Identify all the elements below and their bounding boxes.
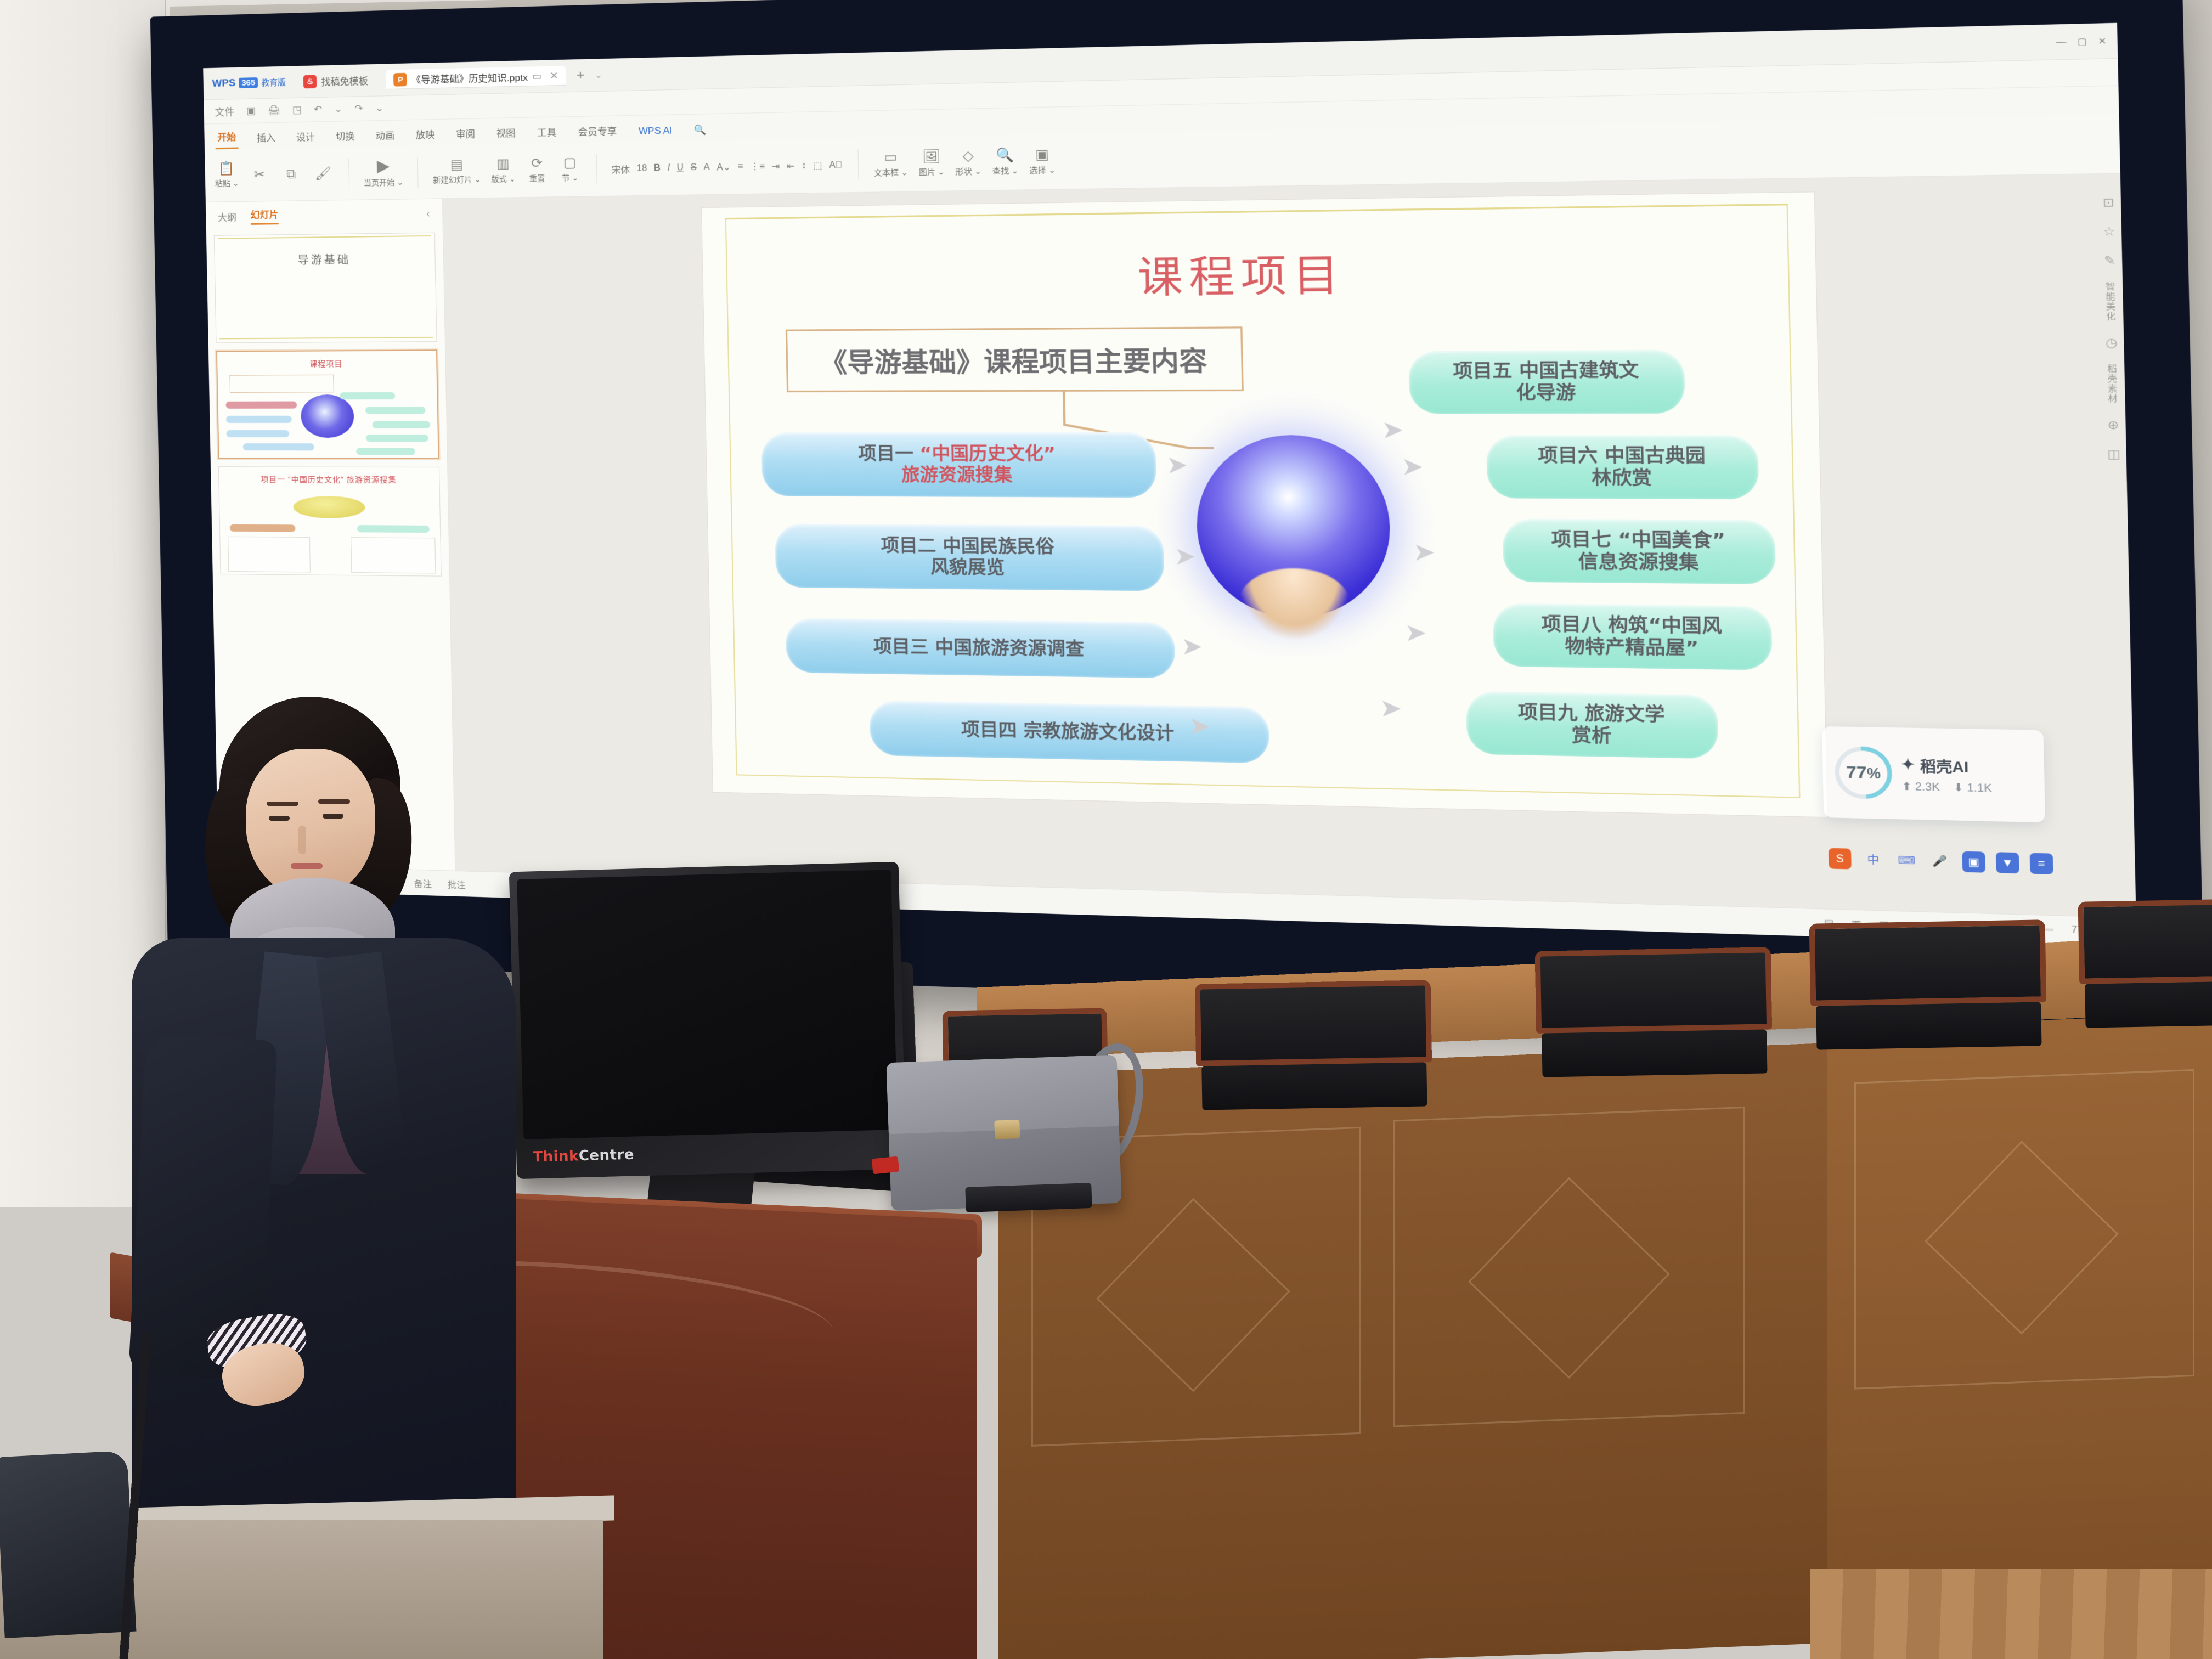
ribbon-divider-2 <box>417 157 419 187</box>
pill-5-line2: 化导游 <box>1516 382 1576 403</box>
file-menu-button[interactable]: 文件 <box>215 104 234 119</box>
font-size-input[interactable]: 18 <box>636 163 647 174</box>
ai-progress-ring: 77% <box>1823 736 1904 810</box>
layout-label: 版式 ⌄ <box>491 173 516 184</box>
section-label: 节 ⌄ <box>562 172 579 183</box>
bullets-button[interactable]: ⋮≡ <box>750 161 765 172</box>
tab-view[interactable]: 视图 <box>494 123 518 144</box>
thumbnail-disc-shape <box>293 496 365 518</box>
project-pill-7[interactable]: 项目七 “中国美食” 信息资源搜集 <box>1503 518 1776 584</box>
current-slide[interactable]: 课程项目 《导游基础》课程项目主要内容 <box>701 191 1828 817</box>
project-pill-8[interactable]: 项目八 构筑“中国风 物特产精品屋” <box>1493 603 1773 670</box>
undo-icon[interactable]: ↶ <box>314 104 323 116</box>
chair <box>2078 898 2212 1055</box>
tab-transition[interactable]: 切换 <box>334 126 357 147</box>
ribbon-divider-3 <box>596 154 597 185</box>
edit-pencil-icon[interactable]: ✎ <box>2104 253 2116 268</box>
play-circle-icon: ▶ <box>376 157 390 174</box>
wps-logo: WPS 365 教育版 <box>212 76 286 89</box>
connector-arrow-right-icon: ➤ <box>1401 454 1424 479</box>
ime-dock: S 中 ⌨ 🎤 ▣ ▼ ≡ <box>1829 848 2053 874</box>
pill-8-line2: 物特产精品屋” <box>1565 636 1699 659</box>
pill-2-highlight: 中国民族民俗 <box>943 535 1054 557</box>
ribbon-divider <box>348 159 349 189</box>
template-icon: ♨ <box>303 75 317 88</box>
tab-outline[interactable]: 大纲 <box>218 210 236 224</box>
quickbar-more-chevron-down-icon[interactable]: ⌄ <box>375 102 384 114</box>
handbag-clasp <box>994 1120 1020 1139</box>
connector-arrow-right-icon: ➤ <box>1174 544 1196 568</box>
language-icon[interactable]: 中 <box>1861 849 1884 870</box>
pill-6-highlight: 中国古典园 <box>1605 445 1706 467</box>
pill-1-prefix: 项目一 <box>858 443 913 464</box>
tab-restore-icon[interactable]: ▭ <box>532 70 542 82</box>
wps-logo-text: WPS <box>212 77 235 89</box>
tab-tools[interactable]: 工具 <box>535 122 559 144</box>
text-box-button[interactable]: ▭ 文本框 ⌄ <box>873 150 908 178</box>
pill-8-prefix: 项目八 <box>1541 613 1601 636</box>
close-window-button[interactable]: ✕ <box>2098 35 2107 47</box>
toolbox-icon[interactable]: ▣ <box>1962 851 1985 873</box>
font-format-group: 宋体 18 B I U S A A⌄ ≡ ⋮≡ ⇥ ⇤ ↕ ⬚ <box>611 158 842 176</box>
pill-5-highlight: 中国古建筑文 <box>1519 360 1639 382</box>
ai-progress-value: 77 <box>1846 763 1867 782</box>
tab-close-icon[interactable]: ✕ <box>550 70 558 82</box>
ai-widget-title: 稻壳AI <box>1920 754 1968 777</box>
slides-group: ▤ 新建幻灯片 ⌄ ▥ 版式 ⌄ ⟳ 重置 ▢ <box>432 156 582 185</box>
connector-arrow-down-icon: ➤ <box>1381 417 1404 442</box>
tab-animation[interactable]: 动画 <box>373 126 397 146</box>
reset-button[interactable]: ⟳ 重置 <box>526 156 549 184</box>
paste-label: 粘贴 ⌄ <box>215 177 239 189</box>
font-name-input[interactable]: 宋体 <box>611 162 630 176</box>
panel-toggle-icon[interactable]: ◫ <box>2107 447 2120 462</box>
red-connector <box>872 1156 900 1175</box>
picture-icon: 🖼 <box>922 150 941 164</box>
wps-edition-label: 教育版 <box>261 76 286 88</box>
text-direction-button[interactable]: ⬚ <box>813 160 822 171</box>
desktop-monitor: ThinkThinkCentreCentre <box>509 862 906 1179</box>
line-spacing-button[interactable]: ↕ <box>802 161 806 171</box>
undo-dropdown-chevron-down-icon[interactable]: ⌄ <box>334 103 343 115</box>
tab-list-chevron-down-icon[interactable]: ⌄ <box>595 69 602 81</box>
pill-9-highlight: 旅游文学 <box>1584 703 1665 726</box>
connector-arrow-right-icon: ➤ <box>1166 453 1188 477</box>
chair <box>1809 919 2048 1077</box>
presenter <box>115 697 532 1509</box>
ai-stat-download: ⬇ 1.1K <box>1953 781 1992 795</box>
slide-editing-area[interactable]: 课程项目 《导游基础》课程项目主要内容 <box>443 174 2136 918</box>
lecture-room-scene: WPS 365 教育版 ♨ 找稿免模板 P 《导游基础》历史知识.pptx ▭ … <box>0 0 2212 1659</box>
align-button[interactable]: ≡ <box>737 162 743 172</box>
tab-insert[interactable]: 插入 <box>255 128 278 149</box>
section-icon: ▢ <box>563 156 577 170</box>
underline-button[interactable]: U <box>677 162 684 173</box>
collapse-panel-chevron-left-icon[interactable]: ‹ <box>426 207 430 219</box>
pill-2-prefix: 项目二 <box>881 535 936 556</box>
pptx-file-icon: P <box>393 72 407 86</box>
navigator-tabs: 大纲 幻灯片 ‹ <box>206 199 443 231</box>
tab-slideshow[interactable]: 放映 <box>413 125 437 145</box>
indent-decrease-button[interactable]: ⇤ <box>787 160 795 172</box>
hands-shape <box>1238 568 1351 640</box>
minimize-button[interactable]: — <box>2056 36 2067 47</box>
slide-callout-box[interactable]: 《导游基础》课程项目主要内容 <box>786 326 1244 392</box>
reset-icon: ⟳ <box>531 156 543 170</box>
tab-wps-ai[interactable]: WPS AI <box>636 123 675 142</box>
wps-logo-badge: 365 <box>239 77 258 88</box>
ai-progress-unit: % <box>1867 765 1881 781</box>
ai-sparkle-icon: ✦ <box>1901 756 1915 774</box>
tab-home[interactable]: 开始 <box>215 127 238 149</box>
select-button[interactable]: ▣ 选择 ⌄ <box>1029 148 1056 176</box>
insert-objects-group: ▭ 文本框 ⌄ 🖼 图片 ⌄ ◇ 形状 ⌄ 🔍 <box>873 148 1056 178</box>
window-controls: — ▢ ✕ <box>2056 35 2107 47</box>
monitor-brand-label: ThinkThinkCentreCentre <box>533 1147 634 1166</box>
favorite-star-icon[interactable]: ☆ <box>2103 224 2115 239</box>
thumbnail-title: 课程项目 <box>217 358 436 370</box>
bold-button[interactable]: B <box>654 163 661 173</box>
thumbnail-globe-icon <box>300 394 354 438</box>
connector-arrow-right-icon: ➤ <box>1404 620 1427 645</box>
indent-increase-button[interactable]: ⇥ <box>772 160 780 172</box>
cut-icon: ✂ <box>254 168 265 181</box>
format-painter-icon: 🖌 <box>314 167 331 180</box>
picture-label: 图片 ⌄ <box>918 166 945 178</box>
select-icon: ▣ <box>1035 148 1049 162</box>
redo-icon[interactable]: ↷ <box>354 103 363 115</box>
pill-8-highlight: 构筑“中国风 <box>1608 614 1723 637</box>
cut-button[interactable]: ✂ <box>249 168 270 182</box>
playback-group: ▶ 当页开始 ⌄ <box>363 157 404 188</box>
slide-thumbnail[interactable]: 项目一 “中国历史文化” 旅游资源搜集 <box>218 466 442 576</box>
tab-review[interactable]: 审阅 <box>454 124 478 145</box>
shape-label: 形状 ⌄ <box>955 165 981 177</box>
new-tab-icon[interactable]: + <box>577 67 585 83</box>
add-circle-icon[interactable]: ⊕ <box>2107 417 2119 433</box>
connector-arrow-right-icon: ➤ <box>1181 634 1203 659</box>
thumbnail-title: 项目一 “中国历史文化” 旅游资源搜集 <box>219 473 439 485</box>
pill-2-line2: 风貌展览 <box>930 557 1005 578</box>
save-icon[interactable]: ▣ <box>246 105 256 116</box>
ribbon-divider-4 <box>857 149 859 180</box>
project-pill-1[interactable]: 项目一 “中国历史文化” 旅游资源搜集 <box>761 432 1157 498</box>
pill-7-prefix: 项目七 <box>1551 529 1611 551</box>
text-effect-button[interactable]: A⃞ <box>829 160 843 170</box>
pill-6-line2: 林欣赏 <box>1592 467 1652 489</box>
section-button[interactable]: ▢ 节 ⌄ <box>558 156 582 183</box>
keyboard-icon[interactable]: ⌨ <box>1895 850 1918 871</box>
pill-9-prefix: 项目九 <box>1517 702 1578 724</box>
slide-title[interactable]: 课程项目 <box>703 235 1816 308</box>
find-button[interactable]: 🔍 查找 ⌄ <box>992 148 1019 176</box>
sogou-input-icon[interactable]: S <box>1829 848 1852 870</box>
docer-ai-widget[interactable]: 77% ✦ 稻壳AI ⬆ 2.3K ⬇ 1.1K <box>1822 726 2045 822</box>
copy-icon: ⧉ <box>286 167 296 180</box>
connector-arrow-up-icon: ➤ <box>1188 714 1210 739</box>
skin-icon[interactable]: ▼ <box>1996 852 2019 873</box>
tab-membership[interactable]: 会员专享 <box>575 121 619 143</box>
pill-4-prefix: 项目四 <box>961 719 1017 741</box>
maximize-button[interactable]: ▢ <box>2077 36 2087 47</box>
docer-resources-label[interactable]: 稻壳素材 <box>2105 364 2120 404</box>
search-icon[interactable]: 🔍 <box>692 122 709 141</box>
slide-callout-text: 《导游基础》课程项目主要内容 <box>820 340 1207 380</box>
layout-button[interactable]: ▥ 版式 ⌄ <box>490 157 516 184</box>
paste-button[interactable]: 📋 粘贴 ⌄ <box>215 162 239 189</box>
slide-right-toolbar: ⊡ ☆ ✎ 智能美化 ◷ 稻壳素材 ⊕ ◫ <box>2102 195 2121 462</box>
strikethrough-button[interactable]: S <box>690 162 697 173</box>
project-pill-2[interactable]: 项目二 中国民族民俗 风貌展览 <box>775 523 1165 591</box>
floor-equipment <box>0 1451 136 1638</box>
template-tab[interactable]: ♨ 找稿免模板 <box>296 70 376 92</box>
project-pill-6[interactable]: 项目六 中国古典园 林欣赏 <box>1486 435 1759 499</box>
select-label: 选择 ⌄ <box>1029 164 1056 176</box>
think-accent: Think <box>533 1148 579 1165</box>
pill-9-line2: 赏析 <box>1571 724 1612 747</box>
pill-1-highlight: “中国历史文化” <box>919 443 1056 464</box>
start-from-current-slide-button[interactable]: ▶ 当页开始 ⌄ <box>363 157 404 188</box>
layout-icon: ▥ <box>496 157 510 171</box>
tab-design[interactable]: 设计 <box>294 127 318 148</box>
smart-layout-icon[interactable]: ⊡ <box>2103 195 2115 210</box>
slide-thumbnail-list: 导游基础 课程项目 <box>206 228 449 581</box>
monitor-display <box>517 870 898 1139</box>
pill-7-highlight: “中国美食” <box>1618 529 1725 551</box>
document-tab[interactable]: P 《导游基础》历史知识.pptx ▭ ✕ <box>386 66 566 89</box>
tab-slides[interactable]: 幻灯片 <box>250 207 278 225</box>
project-pill-9[interactable]: 项目九 旅游文学 赏析 <box>1466 691 1719 759</box>
pill-7-line2: 信息资源搜集 <box>1578 551 1699 573</box>
pill-4-highlight: 宗教旅游文化设计 <box>1023 720 1174 743</box>
desk-device <box>965 1183 1092 1212</box>
find-search-icon: 🔍 <box>996 148 1014 162</box>
new-slide-label: 新建幻灯片 ⌄ <box>433 173 481 185</box>
paste-icon: 📋 <box>218 162 235 176</box>
slide-thumbnail[interactable]: 课程项目 <box>216 349 439 459</box>
new-slide-button[interactable]: ▤ 新建幻灯片 ⌄ <box>432 157 481 185</box>
project-pill-5[interactable]: 项目五 中国古建筑文 化导游 <box>1408 349 1685 414</box>
highlight-button[interactable]: A⌄ <box>716 161 731 173</box>
history-clock-icon[interactable]: ◷ <box>2106 335 2118 351</box>
mic-icon[interactable]: 🎤 <box>1928 850 1951 872</box>
connector-arrow-right-icon: ➤ <box>1379 696 1402 721</box>
chair <box>1535 947 1774 1104</box>
connector-arrow-right-icon: ➤ <box>1413 540 1435 565</box>
slide-thumbnail[interactable]: 导游基础 <box>214 233 437 343</box>
menu-icon[interactable]: ≡ <box>2030 853 2053 874</box>
reset-label: 重置 <box>529 172 545 184</box>
picture-button[interactable]: 🖼 图片 ⌄ <box>918 150 945 178</box>
pill-1-line2: 旅游资源搜集 <box>901 465 1013 486</box>
thumbnail-title: 导游基础 <box>215 250 435 268</box>
pill-5-prefix: 项目五 <box>1453 360 1513 382</box>
clipboard-group: 📋 粘贴 ⌄ ✂ ⧉ 🖌 <box>215 160 334 189</box>
format-painter-button[interactable]: 🖌 <box>312 167 335 180</box>
document-tab-label: 《导游基础》历史知识.pptx <box>411 70 528 86</box>
print-icon[interactable]: 🖨 <box>268 104 280 116</box>
chair <box>1195 980 1434 1137</box>
start-from-current-slide-label: 当页开始 ⌄ <box>364 176 404 188</box>
presenter-face <box>246 749 375 898</box>
thumbnail-callout-shape <box>229 375 334 393</box>
copy-button[interactable]: ⧉ <box>280 167 302 181</box>
text-box-label: 文本框 ⌄ <box>874 166 909 178</box>
italic-button[interactable]: I <box>667 163 670 173</box>
project-pill-3[interactable]: 项目三 中国旅游资源调查 <box>786 618 1176 678</box>
pill-3-highlight: 中国旅游资源调查 <box>935 636 1084 659</box>
find-label: 查找 ⌄ <box>992 165 1018 177</box>
floor-wood-right <box>1810 1569 2212 1659</box>
conference-table-front-right <box>1827 1012 2212 1659</box>
font-color-button[interactable]: A <box>703 162 710 173</box>
beautify-label[interactable]: 智能美化 <box>2103 282 2118 321</box>
text-box-icon: ▭ <box>884 150 898 165</box>
pill-3-prefix: 项目三 <box>873 636 929 657</box>
shape-button[interactable]: ◇ 形状 ⌄ <box>955 149 982 177</box>
pill-6-prefix: 项目六 <box>1538 445 1598 466</box>
template-tab-label: 找稿免模板 <box>321 73 368 88</box>
ai-stat-upload: ⬆ 2.3K <box>1901 780 1940 794</box>
new-slide-icon: ▤ <box>450 158 463 172</box>
print-preview-icon[interactable]: ◳ <box>292 104 302 116</box>
shape-icon: ◇ <box>962 149 974 163</box>
